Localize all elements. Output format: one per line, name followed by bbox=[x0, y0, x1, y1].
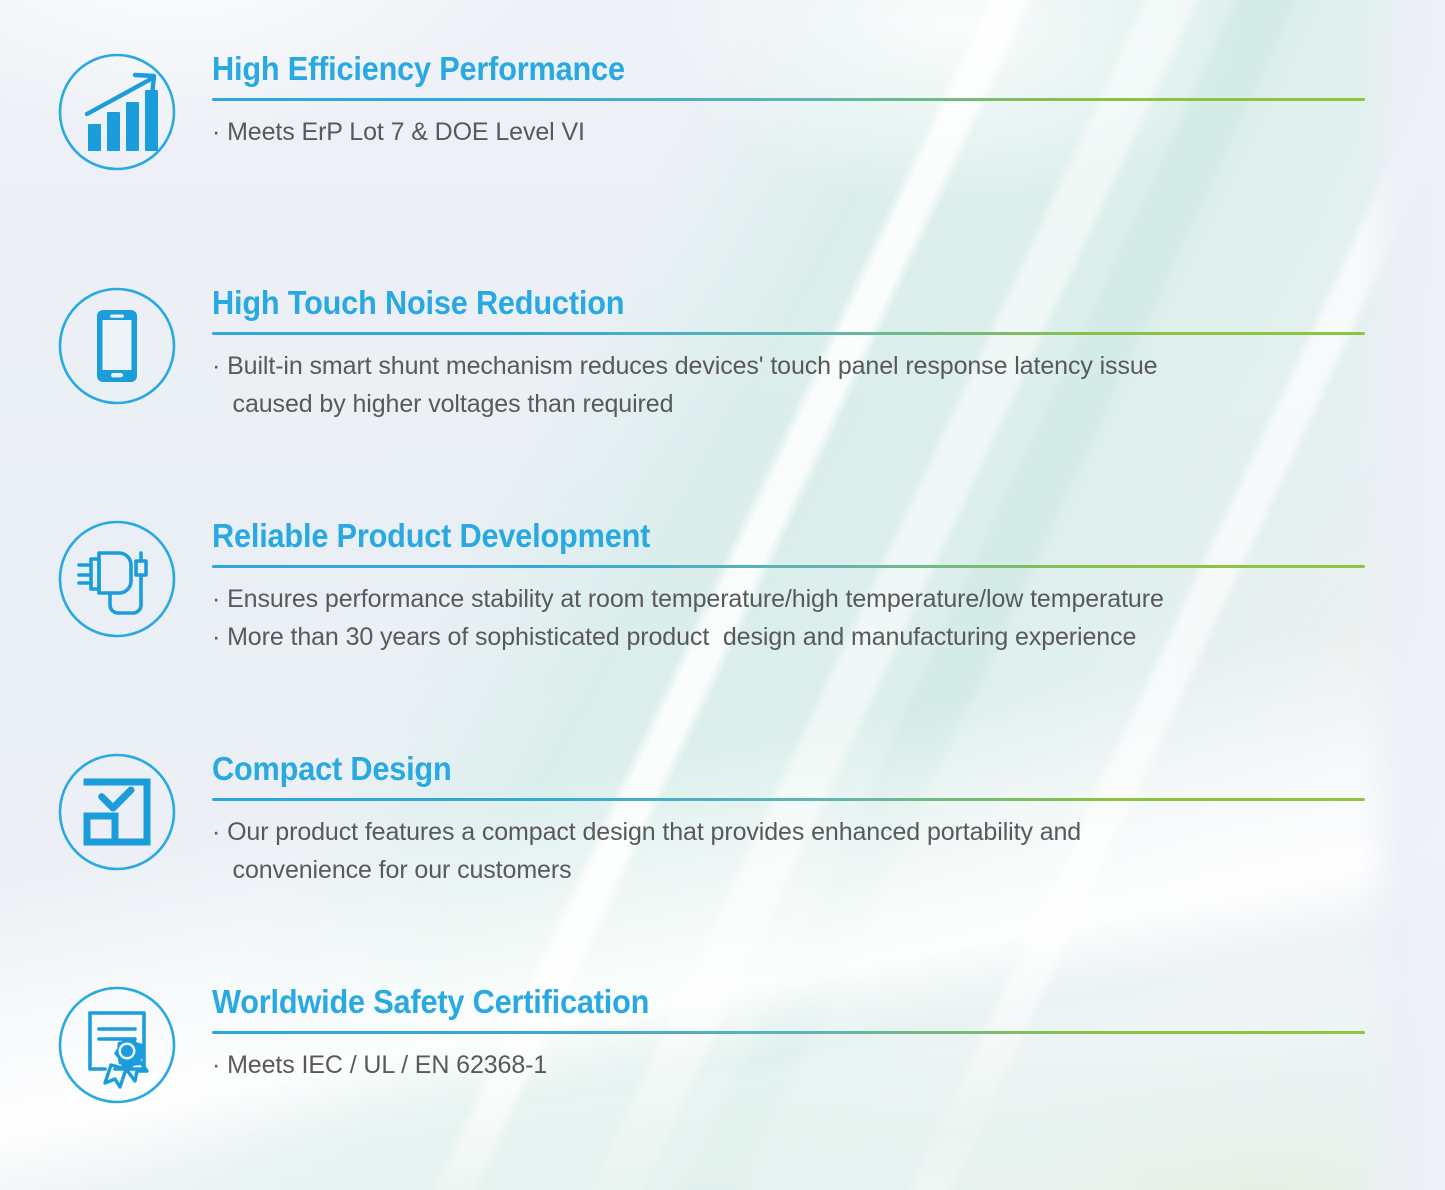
feature-title: Worldwide Safety Certification bbox=[212, 985, 1286, 1020]
feature-text-block: Worldwide Safety Certification · Meets I… bbox=[212, 985, 1367, 1084]
smartphone-icon bbox=[57, 286, 177, 406]
feature-bullet: · Our product features a compact design … bbox=[212, 813, 1367, 889]
feature-bullet: · Meets ErP Lot 7 & DOE Level VI bbox=[212, 113, 1367, 151]
feature-bullet: · Meets IEC / UL / EN 62368-1 bbox=[212, 1046, 1367, 1084]
feature-divider bbox=[212, 798, 1365, 801]
feature-bullets: · Ensures performance stability at room … bbox=[212, 580, 1367, 656]
feature-bullets: · Built-in smart shunt mechanism reduces… bbox=[212, 347, 1367, 423]
feature-divider bbox=[212, 332, 1365, 335]
feature-infographic-page: High Efficiency Performance · Meets ErP … bbox=[0, 0, 1445, 1190]
feature-divider bbox=[212, 98, 1365, 101]
compact-resize-icon bbox=[57, 752, 177, 872]
bar-chart-growth-icon bbox=[57, 52, 177, 172]
feature-title: High Touch Noise Reduction bbox=[212, 286, 1286, 321]
feature-bullets: · Meets IEC / UL / EN 62368-1 bbox=[212, 1046, 1367, 1084]
feature-title: High Efficiency Performance bbox=[212, 52, 1286, 87]
feature-divider bbox=[212, 1031, 1365, 1034]
feature-title: Compact Design bbox=[212, 752, 1286, 787]
feature-text-block: Compact Design · Our product features a … bbox=[212, 752, 1367, 889]
feature-bullet: · Ensures performance stability at room … bbox=[212, 580, 1367, 618]
feature-text-block: High Efficiency Performance · Meets ErP … bbox=[212, 52, 1367, 151]
feature-bullet: · More than 30 years of sophisticated pr… bbox=[212, 618, 1367, 656]
power-adapter-icon bbox=[57, 519, 177, 639]
feature-title: Reliable Product Development bbox=[212, 519, 1286, 554]
certificate-seal-icon bbox=[57, 985, 177, 1105]
feature-bullets: · Meets ErP Lot 7 & DOE Level VI bbox=[212, 113, 1367, 151]
feature-bullets: · Our product features a compact design … bbox=[212, 813, 1367, 889]
feature-bullet: · Built-in smart shunt mechanism reduces… bbox=[212, 347, 1367, 423]
feature-text-block: High Touch Noise Reduction · Built-in sm… bbox=[212, 286, 1367, 423]
feature-divider bbox=[212, 565, 1365, 568]
feature-text-block: Reliable Product Development · Ensures p… bbox=[212, 519, 1367, 656]
